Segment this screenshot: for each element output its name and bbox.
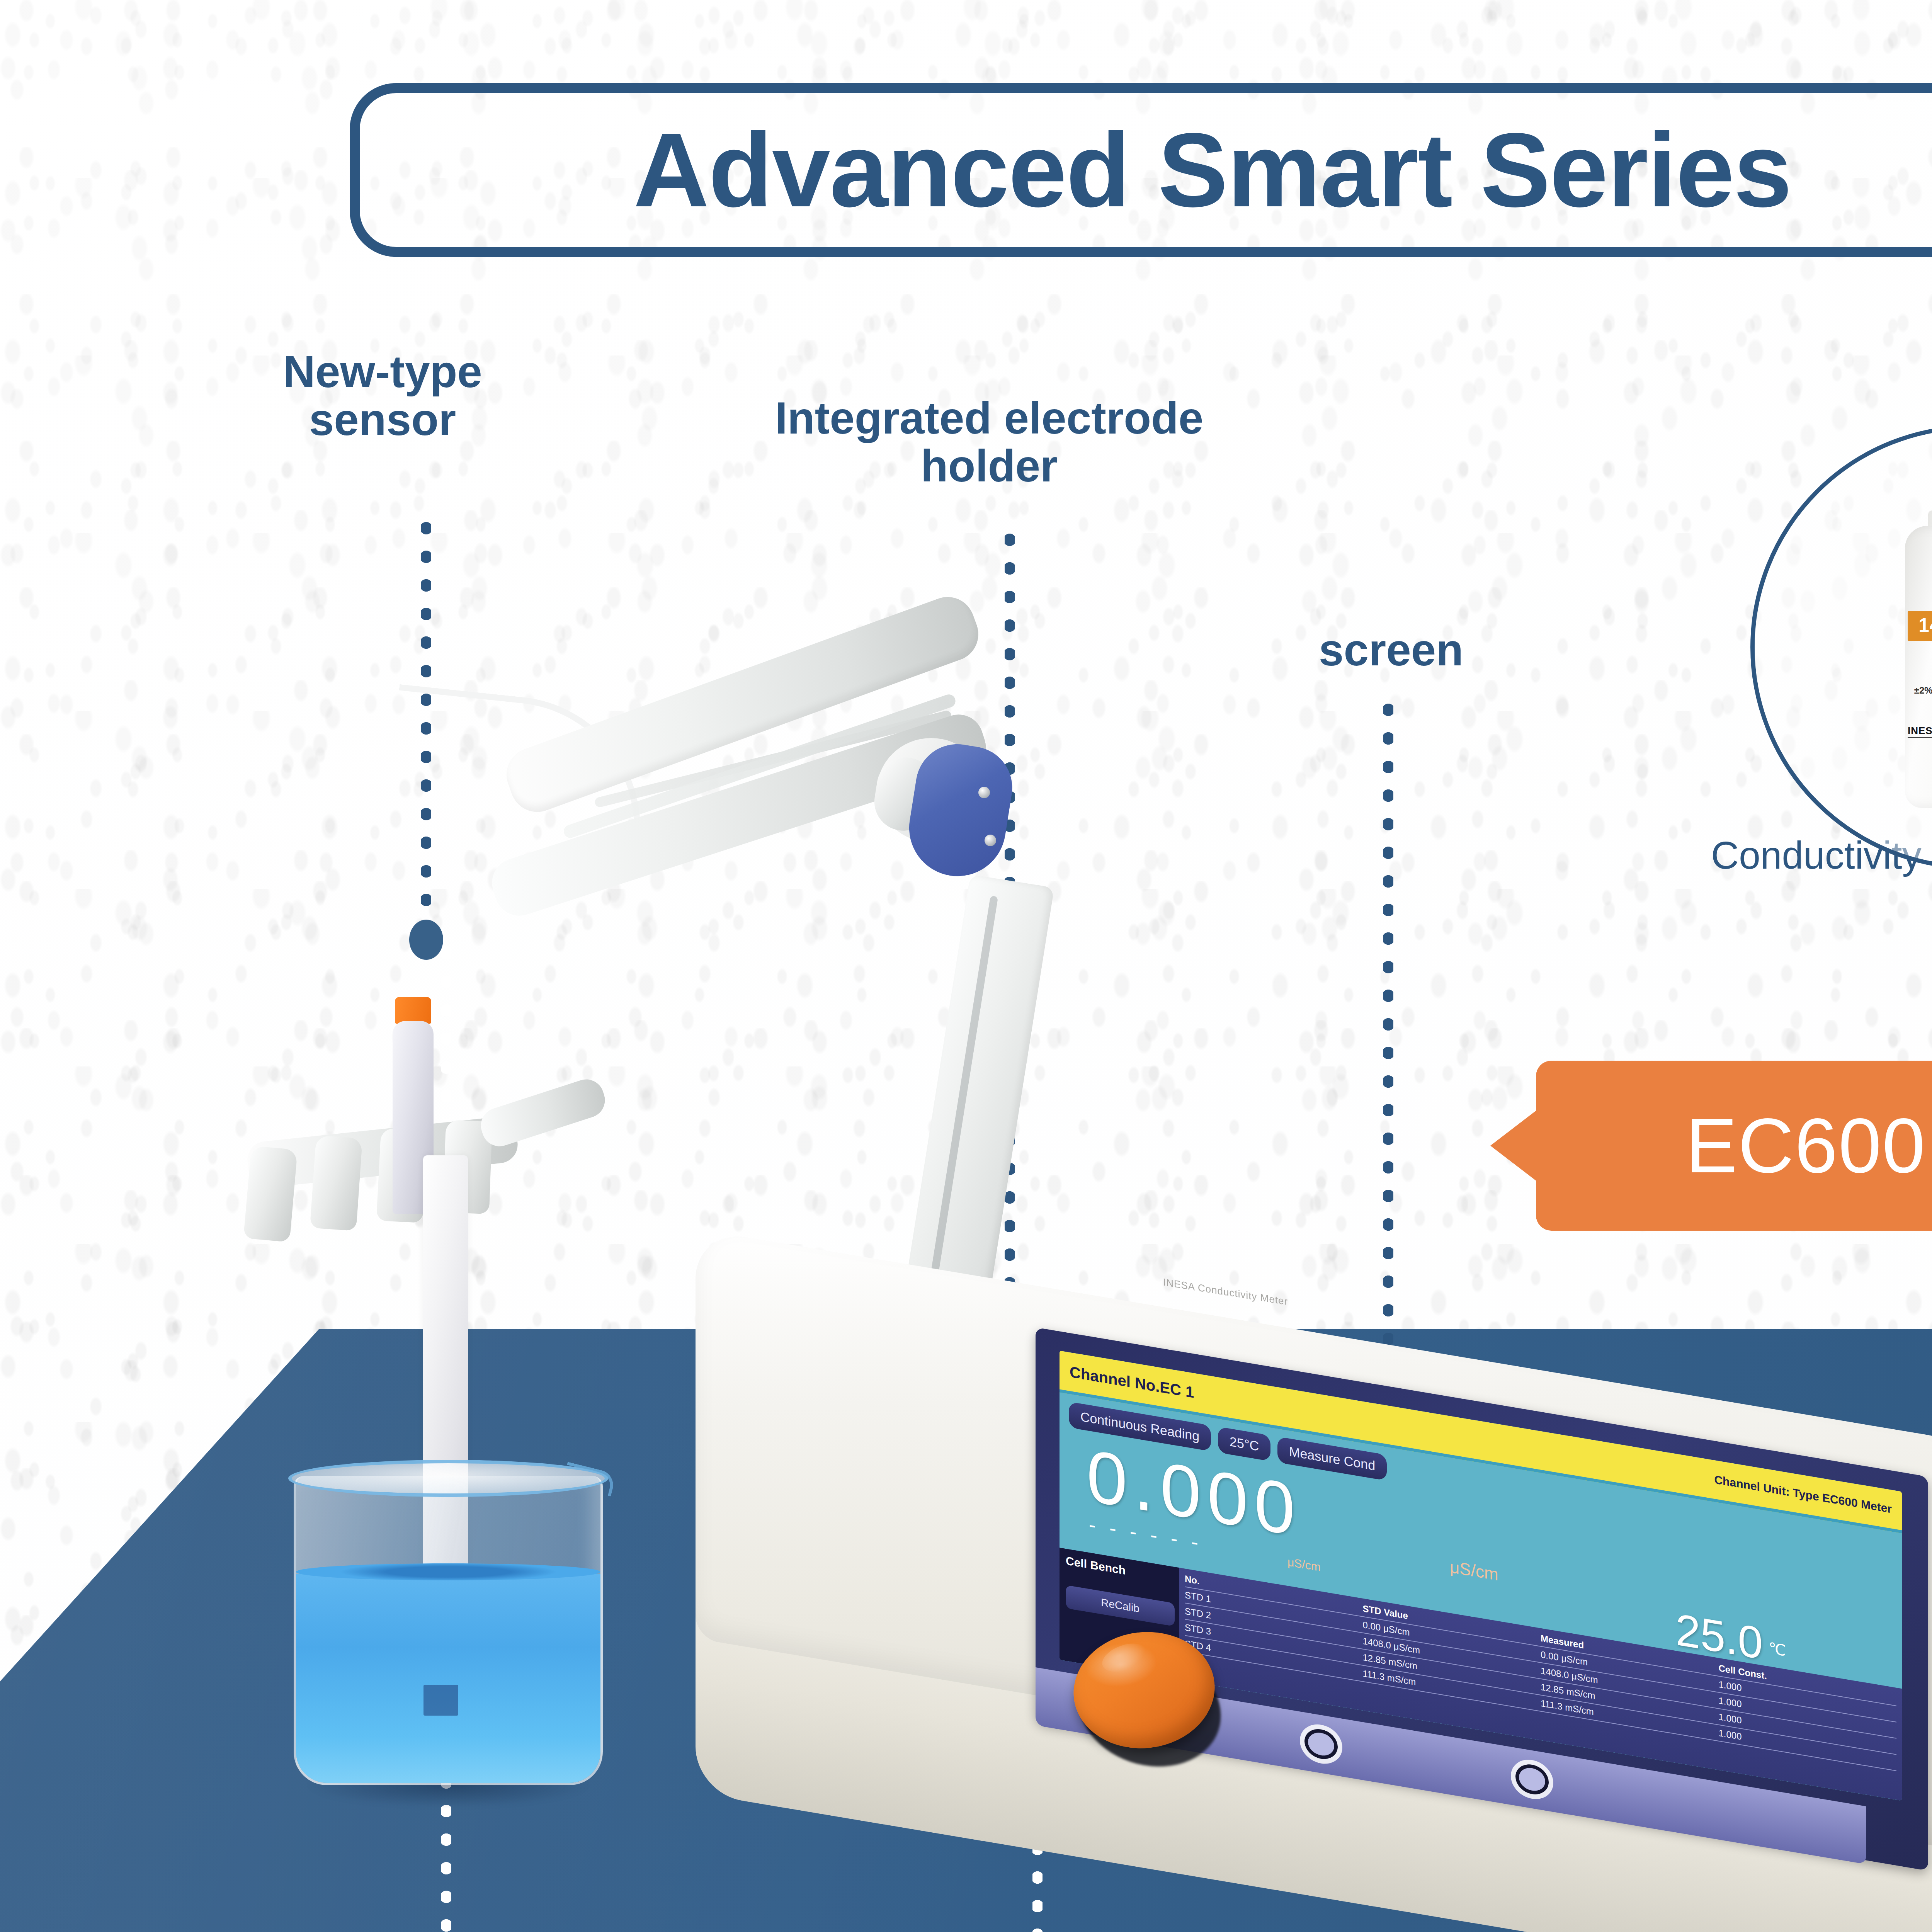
model-badge-label: EC600L (1686, 1101, 1932, 1190)
callout-label-screen: screen (1271, 626, 1511, 674)
pivot-screw (978, 787, 990, 798)
page-title: Advanced Smart Series (633, 117, 1791, 223)
bottle-label: 1413 μS/cm Conductivity Standard ±2% @25… (1908, 611, 1932, 739)
beaker-liquid-surface (296, 1563, 600, 1580)
lcd-temperature-unit: ℃ (1769, 1639, 1786, 1660)
lcd-recalibrate-button[interactable]: ReCalib (1066, 1585, 1175, 1626)
lcd-primary-reading-unit: μS/cm (1450, 1557, 1498, 1584)
inesa-logo-mark: INESA (1908, 725, 1932, 738)
lcd-calibration-title: Cell Bench (1066, 1554, 1175, 1585)
beaker (294, 1430, 603, 1785)
bottle-spec-line: ±2% @25℃ (77°F) VOL: 50 mL (1908, 685, 1932, 707)
clamp-fin (310, 1135, 362, 1231)
conductivity-meter-instrument: INESA Conductivity Meter Channel No.EC 1… (692, 1229, 1932, 1932)
title-banner: Advanced Smart Series (350, 83, 1932, 257)
callout-label-electrode-holder: Integrated electrode holder (734, 394, 1244, 490)
lcd-channel-title: Channel No.EC 1 (1070, 1363, 1194, 1401)
beaker-rim (288, 1460, 608, 1497)
touch-button-2[interactable] (1304, 1726, 1338, 1761)
pivot-screw (985, 835, 996, 846)
standard-solution-bottle: 1413 μS/cm Conductivity Standard ±2% @25… (1899, 449, 1932, 808)
sensor-orange-cap (395, 997, 431, 1024)
beaker-blue-solution (296, 1574, 600, 1783)
clamp-fin (243, 1146, 298, 1242)
touch-button-3[interactable] (1515, 1762, 1549, 1797)
meter-body-brand-text: INESA Conductivity Meter (1163, 1276, 1288, 1308)
model-badge-ec600l: EC600L (1536, 1061, 1932, 1231)
bottle-manufacturer-block: INESA Shanghai INESA Scientific Instrume… (1908, 724, 1932, 739)
lcd-secondary-unit: μS/cm (1287, 1555, 1321, 1574)
beaker-volume-mark (423, 1685, 458, 1716)
callout-label-new-type-sensor: New-type sensor (216, 348, 549, 444)
beaker-glass (294, 1476, 603, 1785)
bottle-product-name: Conductivity Standard (1908, 651, 1932, 680)
bottle-conductivity-value: 1413 μS/cm (1908, 611, 1932, 641)
clamp-connecting-arm (476, 1075, 610, 1151)
